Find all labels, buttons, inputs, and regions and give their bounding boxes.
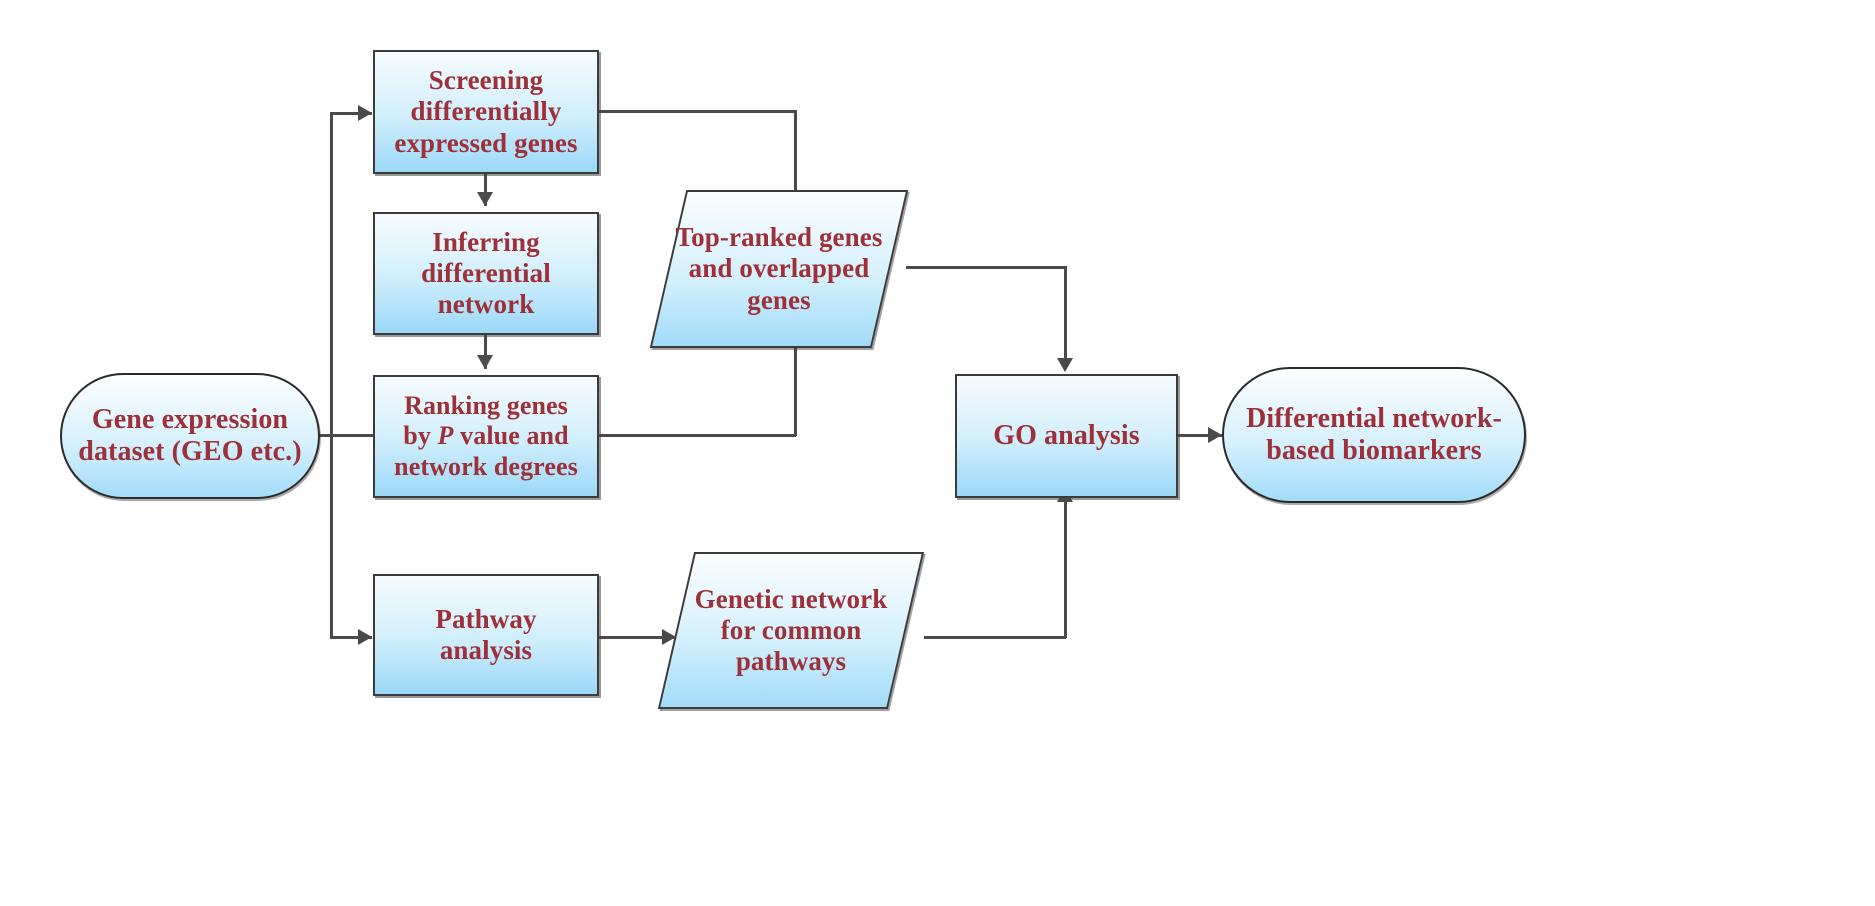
- ranking-line3: network degrees: [394, 452, 578, 481]
- node-inferring-differential-network[interactable]: Inferring differential network: [373, 212, 599, 335]
- node-go-analysis[interactable]: GO analysis: [955, 374, 1178, 498]
- arrowhead-go-biomarkers: [1208, 427, 1222, 443]
- node-gene-expression-dataset[interactable]: Gene expression dataset (GEO etc.): [60, 373, 320, 499]
- edge-trunk-vertical: [330, 113, 333, 638]
- node-label-genetic: Genetic network for common pathways: [689, 584, 894, 678]
- arrowhead-inferring-ranking: [477, 355, 493, 369]
- node-pathway-analysis[interactable]: Pathway analysis: [373, 574, 599, 696]
- edge-screening-topranked-v: [794, 110, 797, 192]
- flowchart-canvas: Gene expression dataset (GEO etc.) Scree…: [0, 0, 1875, 906]
- edge-ranking-topranked-v: [794, 348, 797, 436]
- node-screening-degs[interactable]: Screening differentially expressed genes: [373, 50, 599, 174]
- arrowhead-trunk-pathway: [358, 629, 372, 645]
- edge-genetic-go-h: [924, 636, 1066, 639]
- edge-topranked-go-v: [1064, 266, 1067, 362]
- node-label-dataset: Gene expression dataset (GEO etc.): [72, 404, 307, 469]
- node-genetic-network[interactable]: Genetic network for common pathways: [676, 552, 906, 709]
- arrowhead-topranked-go: [1057, 358, 1073, 372]
- node-label-ranking: Ranking genesby P value andnetwork degre…: [388, 391, 584, 481]
- edge-topranked-go-h: [906, 266, 1066, 269]
- node-label-screening: Screening differentially expressed genes: [388, 65, 583, 159]
- edge-ranking-topranked-h: [596, 434, 796, 437]
- node-label-biomarkers: Differential network- based biomarkers: [1240, 403, 1508, 468]
- ranking-line2b: value and: [454, 421, 569, 450]
- arrowhead-trunk-screening: [358, 105, 372, 121]
- ranking-p-italic: P: [438, 421, 454, 450]
- edge-screening-topranked-h: [596, 110, 796, 113]
- ranking-line2a: by: [403, 421, 437, 450]
- node-label-go: GO analysis: [987, 420, 1146, 452]
- node-label-inferring: Inferring differential network: [415, 227, 557, 321]
- arrowhead-screening-inferring: [477, 192, 493, 206]
- node-label-pathway: Pathway analysis: [429, 604, 542, 667]
- node-label-topranked: Top-ranked genes and overlapped genes: [670, 222, 889, 316]
- node-ranking-genes[interactable]: Ranking genesby P value andnetwork degre…: [373, 375, 599, 498]
- node-biomarkers[interactable]: Differential network- based biomarkers: [1222, 367, 1526, 503]
- ranking-line1: Ranking genes: [404, 391, 568, 420]
- edge-genetic-go-v: [1064, 500, 1067, 638]
- node-top-ranked-genes[interactable]: Top-ranked genes and overlapped genes: [668, 190, 890, 348]
